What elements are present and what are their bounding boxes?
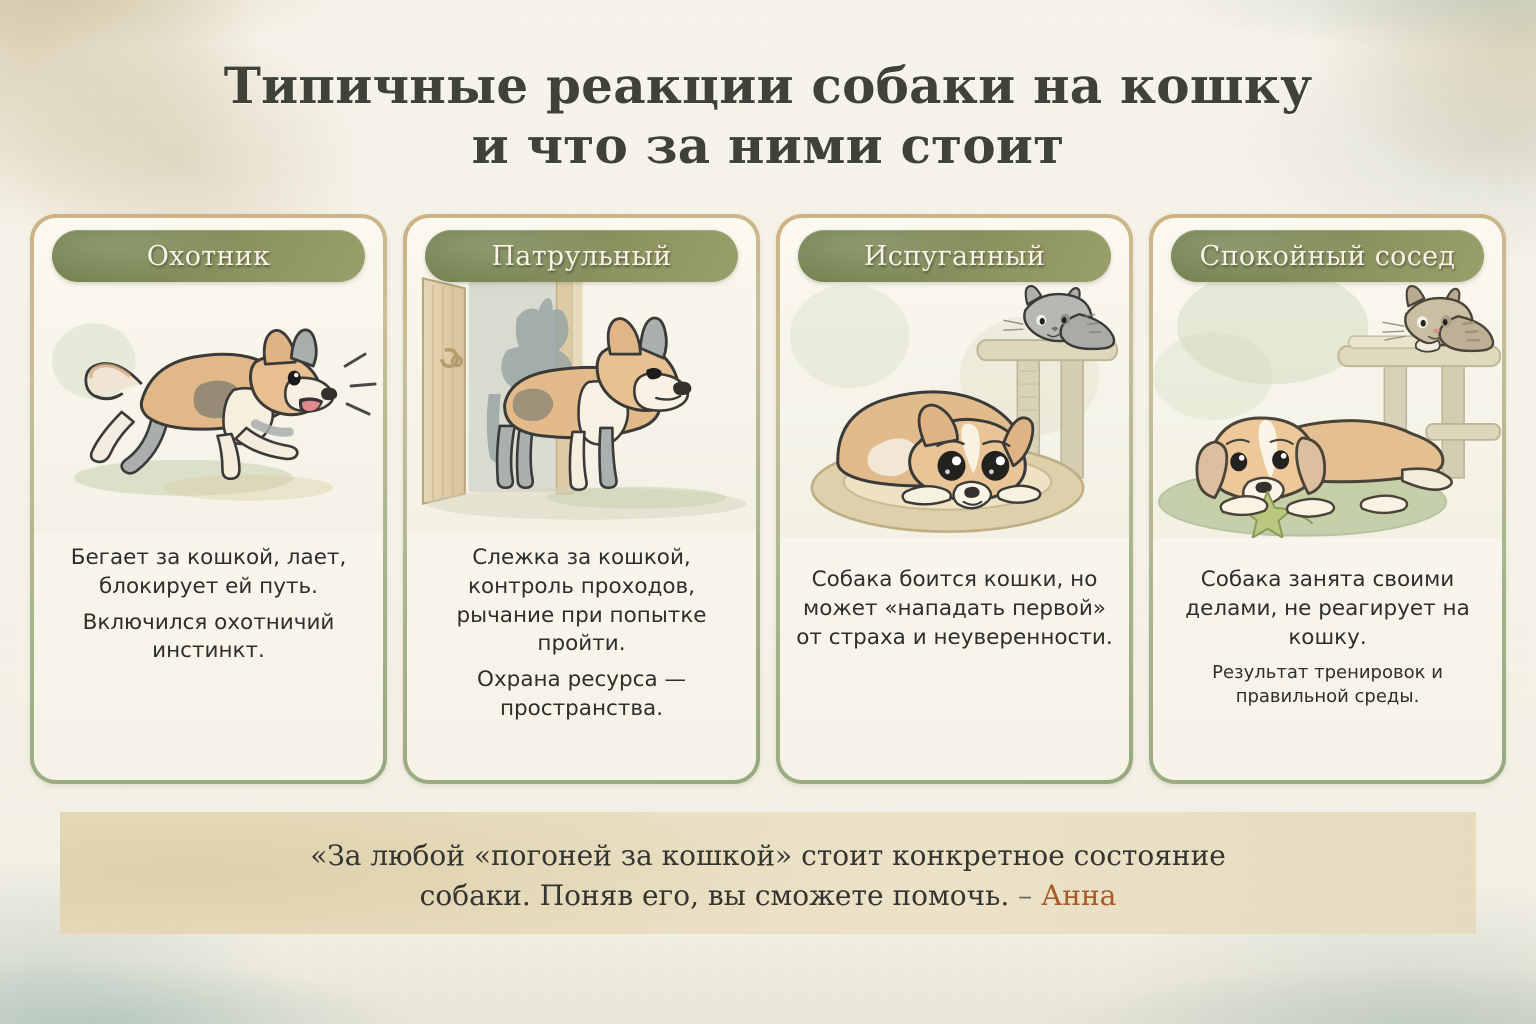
card-inner: Спокойный сосед	[1153, 218, 1502, 780]
dog-in-doorway-with-cat-silhouette-icon	[407, 266, 756, 534]
card-body-main: Бегает за кошкой, лает, блокирует ей пут…	[48, 544, 369, 602]
title-line-1: Типичные реакции собаки на кошку	[0, 56, 1536, 116]
footer-quote-line-1: «За любой «погоней за кошкой» стоит конк…	[0, 836, 1536, 876]
card-body-sub: Результат тренировок и правильной среды.	[1167, 661, 1488, 708]
scared-dog-on-bed-with-cat-on-tree-icon	[780, 266, 1129, 538]
footer-quote-line-2-text: собаки. Поняв его, вы сможете помочь.	[420, 879, 1010, 912]
card-inner: Испуганный	[780, 218, 1129, 780]
calm-dog-with-toy-and-cat-on-tree-icon	[1153, 266, 1502, 538]
card-header-badge: Спокойный сосед	[1171, 230, 1484, 282]
infographic-poster: Типичные реакции собаки на кошку и что з…	[0, 0, 1536, 1024]
poster-title: Типичные реакции собаки на кошку и что з…	[0, 56, 1536, 176]
card-body-main: Собака занята своими делами, не реагируе…	[1167, 566, 1488, 652]
card-header-badge: Охотник	[52, 230, 365, 282]
card-scared[interactable]: Испуганный	[776, 214, 1133, 784]
footer-quote-line-2: собаки. Поняв его, вы сможете помочь. – …	[0, 876, 1536, 916]
card-header-label: Испуганный	[864, 241, 1045, 272]
card-body-main: Собака боится кошки, но может «нападать …	[794, 566, 1115, 652]
card-inner: Охотник	[34, 218, 383, 780]
card-body: Собака боится кошки, но может «нападать …	[780, 538, 1129, 780]
footer-quote: «За любой «погоней за кошкой» стоит конк…	[0, 836, 1536, 916]
cards-row: Охотник	[30, 214, 1506, 784]
card-patrol[interactable]: Патрульный	[403, 214, 760, 784]
card-header-label: Охотник	[147, 241, 271, 272]
card-body: Слежка за кошкой, контроль проходов, рыч…	[407, 534, 756, 780]
footer-author: Анна	[1041, 879, 1116, 912]
bottom-watercolor-wash	[0, 928, 1536, 1024]
card-body-sub: Включился охотничий инстинкт.	[48, 609, 369, 667]
card-body: Собака занята своими делами, не реагируе…	[1153, 538, 1502, 780]
footer-dash: –	[1018, 879, 1032, 912]
card-body: Бегает за кошкой, лает, блокирует ей пут…	[34, 534, 383, 780]
card-header-label: Патрульный	[491, 241, 671, 272]
card-inner: Патрульный	[407, 218, 756, 780]
card-body-sub: Охрана ресурса — пространства.	[421, 666, 742, 724]
card-header-badge: Испуганный	[798, 230, 1111, 282]
running-barking-dog-icon	[34, 266, 383, 534]
card-header-badge: Патрульный	[425, 230, 738, 282]
card-calm-neighbor[interactable]: Спокойный сосед	[1149, 214, 1506, 784]
card-body-main: Слежка за кошкой, контроль проходов, рыч…	[421, 544, 742, 659]
title-line-2: и что за ними стоит	[0, 116, 1536, 176]
card-hunter[interactable]: Охотник	[30, 214, 387, 784]
card-header-label: Спокойный сосед	[1200, 241, 1456, 272]
